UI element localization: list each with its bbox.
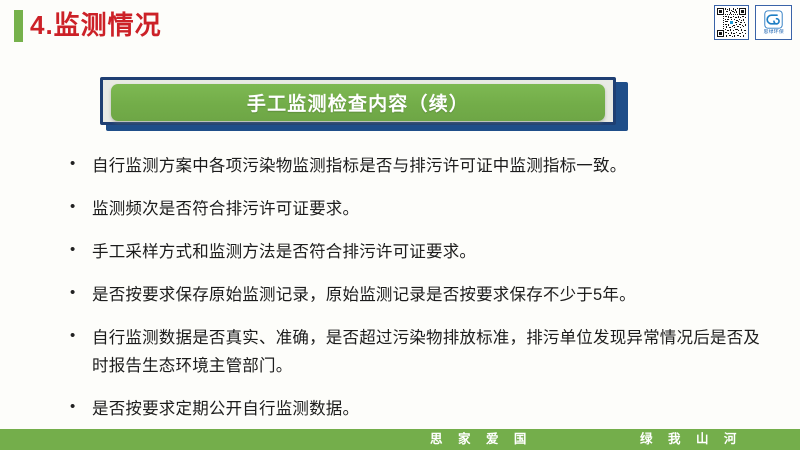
list-item: • 自行监测方案中各项污染物监测指标是否与排污许可证中监测指标一致。 bbox=[70, 152, 770, 180]
bullet-marker-icon: • bbox=[70, 195, 92, 219]
bullet-marker-icon: • bbox=[70, 395, 92, 419]
list-item-text: 自行监测方案中各项污染物监测指标是否与排污许可证中监测指标一致。 bbox=[92, 152, 770, 180]
logo-mark-icon bbox=[764, 10, 783, 29]
bullet-list: • 自行监测方案中各项污染物监测指标是否与排污许可证中监测指标一致。 • 监测频… bbox=[70, 152, 770, 438]
page-title: 4.监测情况 bbox=[30, 8, 162, 42]
list-item: • 手工采样方式和监测方法是否符合排污许可证要求。 bbox=[70, 238, 770, 266]
logo-caption: 思绿环保 bbox=[763, 29, 784, 35]
bullet-marker-icon: • bbox=[70, 324, 92, 348]
list-item: • 是否按要求定期公开自行监测数据。 bbox=[70, 395, 770, 423]
brand-block: 思绿环保 bbox=[714, 5, 792, 40]
qr-code-icon[interactable] bbox=[714, 5, 749, 40]
bullet-marker-icon: • bbox=[70, 152, 92, 176]
title-accent-bar bbox=[14, 10, 23, 42]
slide-footer: 思 家 爱 国 绿 我 山 河 bbox=[0, 429, 800, 450]
footer-slogan-left: 思 家 爱 国 bbox=[430, 429, 532, 450]
banner-title: 手工监测检查内容（续） bbox=[247, 89, 469, 116]
qr-code-svg bbox=[717, 8, 746, 37]
list-item-text: 自行监测数据是否真实、准确，是否超过污染物排放标准，排污单位发现异常情况后是否及… bbox=[92, 324, 770, 380]
banner-frame: 手工监测检查内容（续） bbox=[100, 77, 616, 125]
banner-fill: 手工监测检查内容（续） bbox=[111, 84, 605, 121]
bullet-marker-icon: • bbox=[70, 281, 92, 305]
company-logo[interactable]: 思绿环保 bbox=[755, 5, 792, 40]
list-item-text: 是否按要求保存原始监测记录，原始监测记录是否按要求保存不少于5年。 bbox=[92, 281, 770, 309]
list-item: • 自行监测数据是否真实、准确，是否超过污染物排放标准，排污单位发现异常情况后是… bbox=[70, 324, 770, 380]
list-item-text: 监测频次是否符合排污许可证要求。 bbox=[92, 195, 770, 223]
footer-slogan-right: 绿 我 山 河 bbox=[640, 429, 742, 450]
slide-header: 4.监测情况 bbox=[0, 0, 800, 52]
list-item: • 是否按要求保存原始监测记录，原始监测记录是否按要求保存不少于5年。 bbox=[70, 281, 770, 309]
list-item-text: 手工采样方式和监测方法是否符合排污许可证要求。 bbox=[92, 238, 770, 266]
list-item-text: 是否按要求定期公开自行监测数据。 bbox=[92, 395, 770, 423]
bullet-marker-icon: • bbox=[70, 238, 92, 262]
section-banner: 手工监测检查内容（续） bbox=[100, 77, 628, 131]
list-item: • 监测频次是否符合排污许可证要求。 bbox=[70, 195, 770, 223]
slide-canvas: 4.监测情况 bbox=[0, 0, 800, 450]
